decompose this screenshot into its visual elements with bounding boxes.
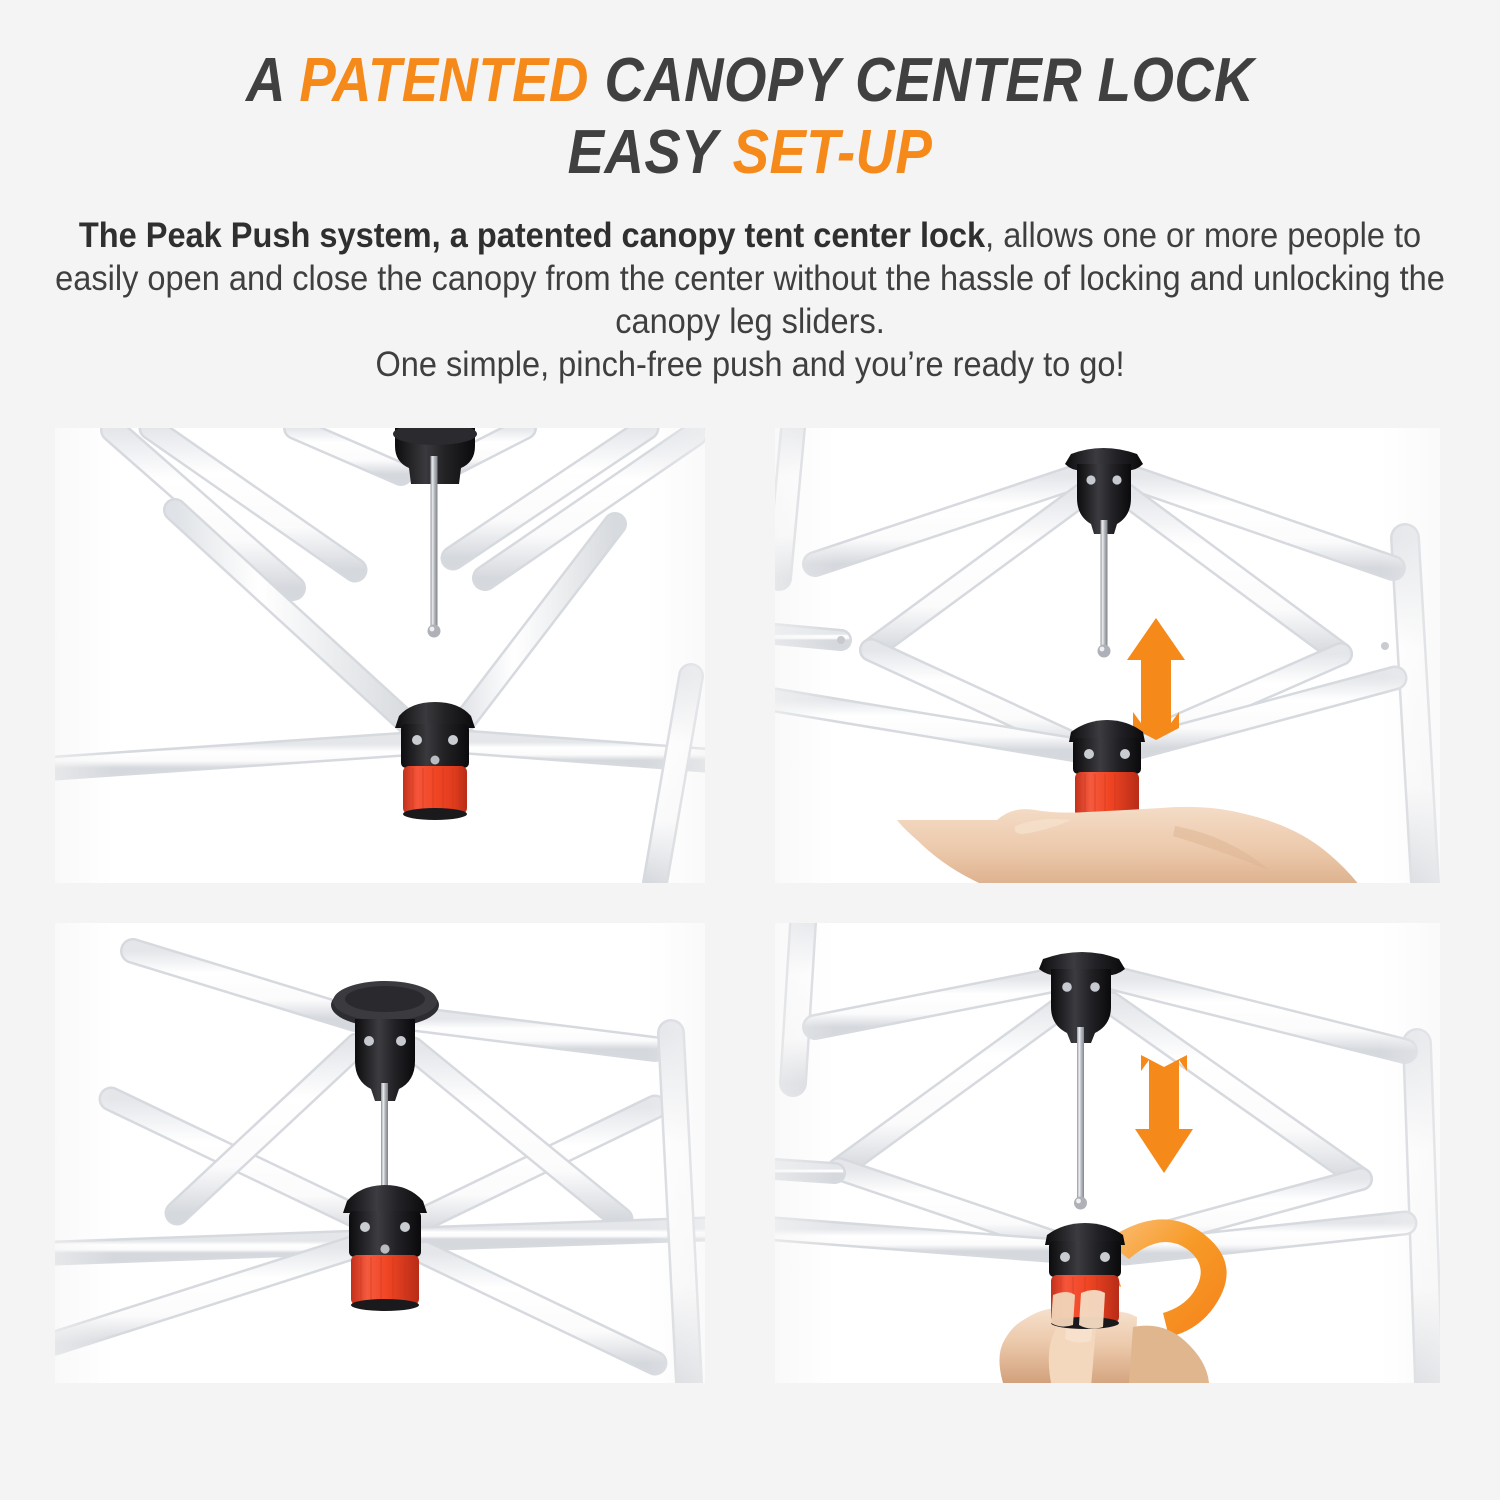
page-subtitle: EASY SET-UP	[90, 118, 1410, 188]
page-title: A PATENTED CANOPY CENTER LOCK	[90, 46, 1410, 116]
title-highlight-patented: PATENTED	[299, 46, 588, 115]
description-paragraph: The Peak Push system, a patented canopy …	[53, 214, 1448, 386]
subtitle-text-a: EASY	[568, 118, 733, 187]
image-panel-grid	[0, 428, 1500, 1388]
canopy-frame-illustration-4	[775, 923, 1440, 1383]
infographic-page: { "header": { "title_line1_part1": "A ",…	[0, 0, 1500, 1500]
canopy-frame-illustration-1	[55, 428, 705, 883]
title-text-a: A	[246, 46, 299, 115]
panel-canopy-frame-release-down	[775, 923, 1440, 1383]
panel-canopy-frame-locked	[55, 923, 705, 1383]
title-text-b: CANOPY CENTER LOCK	[589, 46, 1254, 115]
subtitle-highlight-setup: SET-UP	[733, 118, 933, 187]
push-rod	[381, 1083, 388, 1203]
description-line-2: One simple, pinch-free push and you’re r…	[53, 343, 1448, 386]
canopy-frame-illustration-3	[55, 923, 705, 1383]
canopy-frame-illustration-2	[775, 428, 1440, 883]
panel-canopy-frame-extended-rod	[55, 428, 705, 883]
center-lock-slider	[343, 1185, 427, 1311]
center-lock-slider	[395, 702, 475, 820]
description-lead: The Peak Push system, a patented canopy …	[79, 216, 985, 255]
description-line-1: The Peak Push system, a patented canopy …	[53, 214, 1448, 343]
header: A PATENTED CANOPY CENTER LOCK EASY SET-U…	[0, 0, 1500, 386]
panel-canopy-frame-push-up	[775, 428, 1440, 883]
center-lock-slider	[1069, 720, 1145, 824]
center-lock-slider	[1045, 1223, 1125, 1329]
